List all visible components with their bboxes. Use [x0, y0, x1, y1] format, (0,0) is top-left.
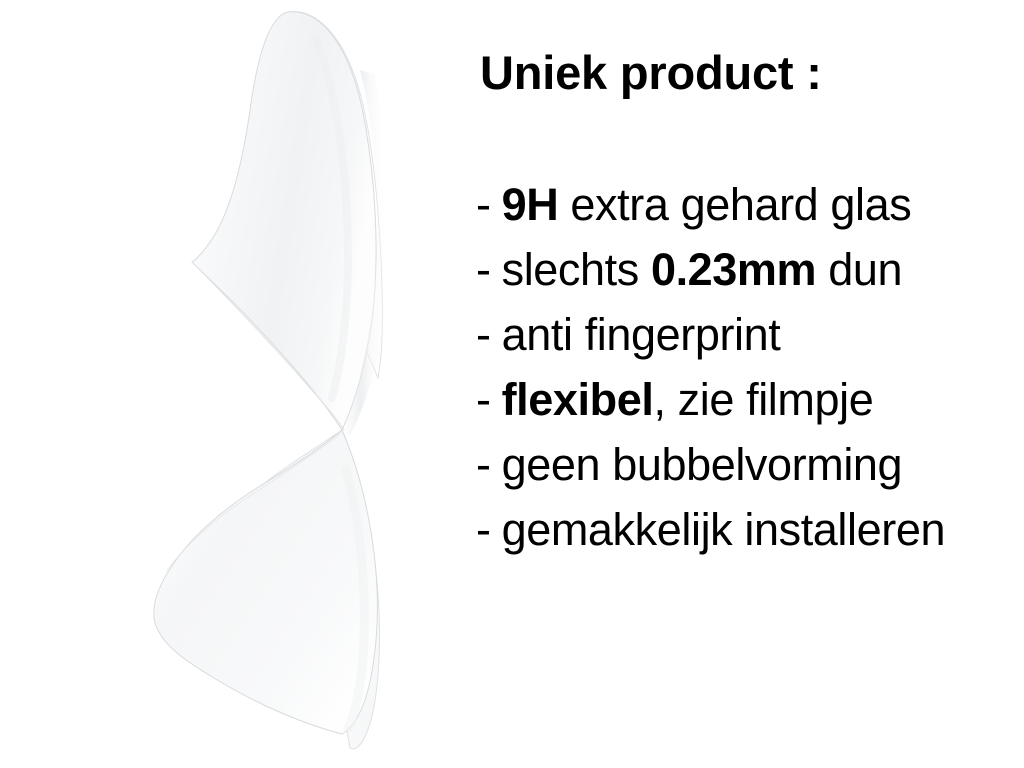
list-bullet-dash: - — [476, 172, 491, 237]
feature-text: dun — [816, 244, 902, 295]
list-bullet-dash: - — [476, 367, 491, 432]
feature-text: slechts — [502, 244, 651, 295]
list-bullet-dash: - — [476, 432, 491, 497]
list-item: -gemakkelijk installeren — [476, 497, 1024, 562]
product-image-twisted-glass — [110, 0, 440, 768]
feature-emphasis: 0.23mm — [651, 244, 816, 295]
feature-text: geen bubbelvorming — [502, 439, 903, 490]
feature-text: gemakkelijk installeren — [502, 504, 946, 555]
list-bullet-dash: - — [476, 497, 491, 562]
list-item: -slechts 0.23mm dun — [476, 237, 1024, 302]
feature-emphasis: 9H — [502, 179, 559, 230]
list-item: -geen bubbelvorming — [476, 432, 1024, 497]
feature-text: anti fingerprint — [502, 309, 781, 360]
marketing-copy-block: Uniek product : -9H extra gehard glas -s… — [476, 0, 1024, 768]
feature-text: , zie filmpje — [653, 374, 873, 425]
product-promo-slide: Uniek product : -9H extra gehard glas -s… — [0, 0, 1024, 768]
list-bullet-dash: - — [476, 302, 491, 367]
list-item: -flexibel, zie filmpje — [476, 367, 1024, 432]
page-title: Uniek product : — [480, 49, 822, 98]
feature-list: -9H extra gehard glas -slechts 0.23mm du… — [476, 172, 1024, 562]
list-item: -9H extra gehard glas — [476, 172, 1024, 237]
feature-text: extra gehard glas — [558, 179, 911, 230]
list-bullet-dash: - — [476, 237, 491, 302]
list-item: -anti fingerprint — [476, 302, 1024, 367]
feature-emphasis: flexibel — [502, 374, 654, 425]
